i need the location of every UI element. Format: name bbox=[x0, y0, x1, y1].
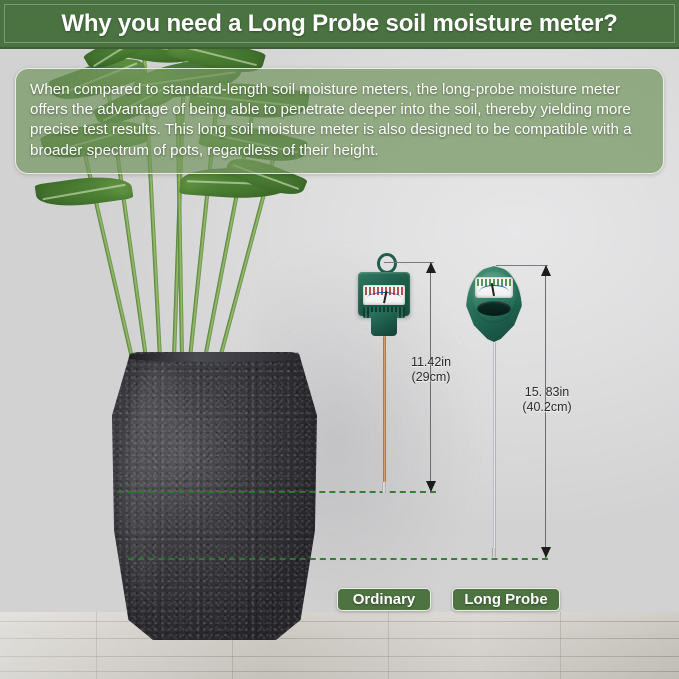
floor-sheen bbox=[0, 612, 679, 679]
gauge-dial bbox=[363, 285, 405, 305]
dimension-label-long-probe: 15. 83in (40.2cm) bbox=[508, 385, 586, 416]
arrow-up-icon-long-probe bbox=[541, 265, 551, 276]
copper-probe bbox=[383, 336, 386, 482]
arrow-down-icon-ordinary bbox=[426, 481, 436, 492]
arrow-up-icon-ordinary bbox=[426, 262, 436, 273]
dimension-cm-ordinary: (29cm) bbox=[412, 370, 451, 384]
ceramic-planter bbox=[112, 352, 317, 640]
ordinary-moisture-meter bbox=[358, 264, 410, 336]
hanging-loop-icon bbox=[377, 253, 397, 274]
label-badge-long-probe: Long Probe bbox=[452, 588, 560, 611]
meter-body bbox=[358, 272, 410, 316]
description-box: When compared to standard-length soil mo… bbox=[15, 68, 664, 174]
infographic-canvas: 11.42in (29cm) 15. 83in (40.2cm) Why you… bbox=[0, 0, 679, 679]
steel-probe bbox=[493, 342, 496, 548]
probe-tip bbox=[492, 548, 496, 558]
dimension-label-ordinary: 11.42in (29cm) bbox=[396, 355, 466, 386]
description-text: When compared to standard-length soil mo… bbox=[30, 80, 649, 161]
guide-line-ordinary bbox=[118, 491, 436, 493]
dimension-inches-ordinary: 11.42in bbox=[411, 355, 451, 369]
dimension-inches-long-probe: 15. 83in bbox=[525, 385, 569, 399]
long-probe-moisture-meter bbox=[466, 266, 522, 342]
brand-plate bbox=[477, 301, 511, 316]
label-badge-ordinary: Ordinary bbox=[337, 588, 431, 611]
guide-line-long-probe bbox=[128, 558, 548, 560]
gauge-dial bbox=[475, 277, 513, 298]
dimension-cm-long-probe: (40.2cm) bbox=[522, 400, 571, 414]
probe-tip bbox=[382, 482, 386, 493]
page-title: Why you need a Long Probe soil moisture … bbox=[61, 10, 617, 38]
header-banner: Why you need a Long Probe soil moisture … bbox=[0, 0, 679, 49]
meter-neck bbox=[371, 312, 397, 336]
arrow-down-icon-long-probe bbox=[541, 547, 551, 558]
